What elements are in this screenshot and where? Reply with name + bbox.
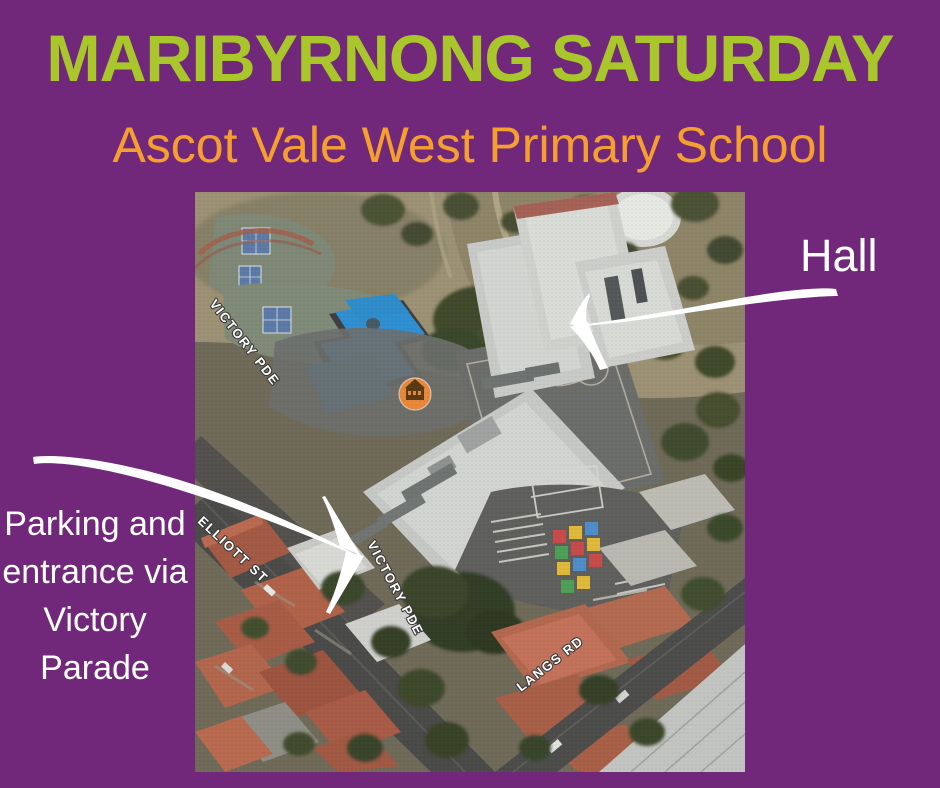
parking-annotation-label: Parking and entrance via Victory Parade — [0, 500, 190, 692]
parking-line-1: Parking and — [0, 500, 190, 548]
hall-annotation-label: Hall — [800, 232, 878, 280]
aerial-map[interactable]: VICTORY PDE ELLIOTT ST VICTORY PDE LANGS… — [195, 192, 745, 772]
parking-line-3: Victory — [0, 596, 190, 644]
parking-line-4: Parade — [0, 644, 190, 692]
poster-canvas: MARIBYRNONG SATURDAY Ascot Vale West Pri… — [0, 0, 940, 788]
map-image: VICTORY PDE ELLIOTT ST VICTORY PDE LANGS… — [195, 192, 745, 772]
parking-line-2: entrance via — [0, 548, 190, 596]
page-title: MARIBYRNONG SATURDAY — [7, 22, 933, 94]
page-subtitle: Ascot Vale West Primary School — [0, 116, 940, 174]
